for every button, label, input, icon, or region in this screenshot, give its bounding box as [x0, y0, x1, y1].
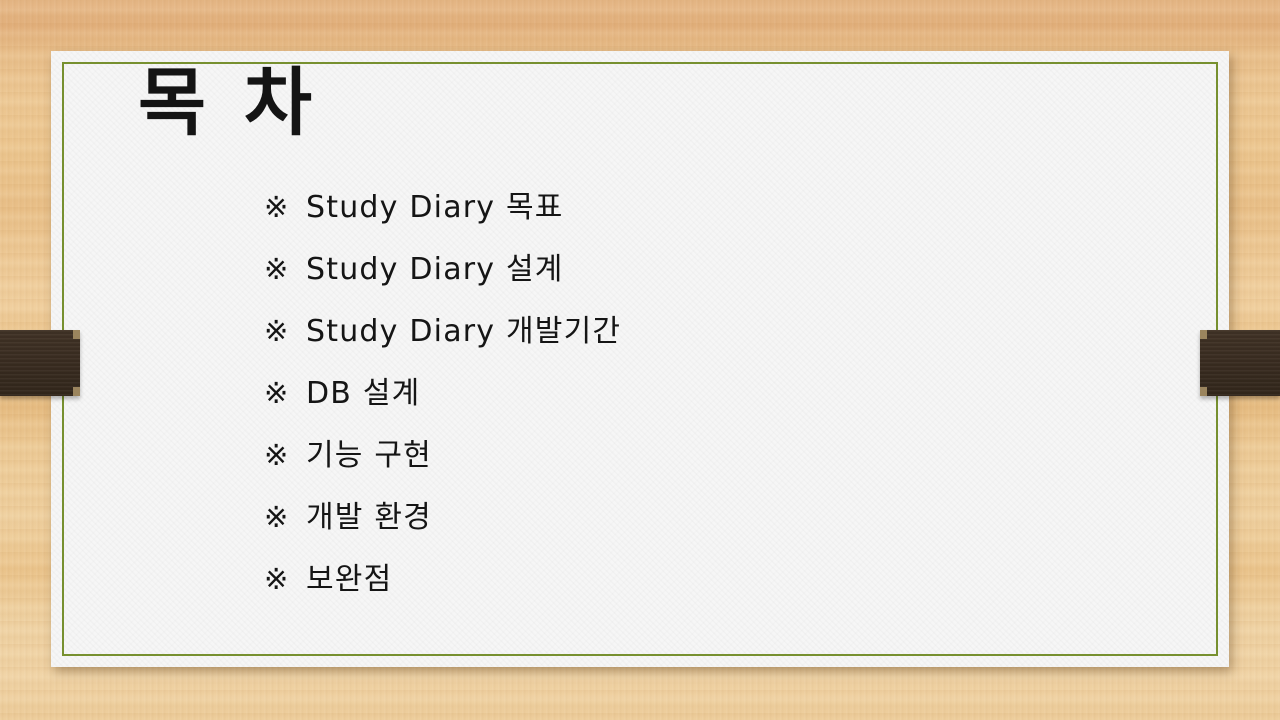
list-item: ※ Study Diary 목표 — [264, 182, 621, 244]
decorative-ribbon-left — [0, 330, 80, 396]
reference-mark-icon: ※ — [264, 500, 306, 534]
list-item-label: DB 설계 — [306, 368, 420, 412]
list-item: ※ 기능 구현 — [264, 430, 621, 492]
list-item-label: 보완점 — [306, 554, 392, 598]
ribbon-cap-top-left — [73, 330, 80, 339]
decorative-ribbon-right — [1200, 330, 1280, 396]
list-item-label: 개발 환경 — [306, 492, 432, 536]
list-item-label: Study Diary 개발기간 — [306, 306, 621, 350]
ribbon-cap-top-right — [1200, 330, 1207, 339]
list-item-label: Study Diary 목표 — [306, 182, 564, 226]
list-item: ※ 개발 환경 — [264, 492, 621, 554]
reference-mark-icon: ※ — [264, 190, 306, 224]
list-item: ※ DB 설계 — [264, 368, 621, 430]
list-item: ※ Study Diary 개발기간 — [264, 306, 621, 368]
presentation-slide: 목 차 ※ Study Diary 목표 ※ Study Diary 설계 ※ … — [0, 0, 1280, 720]
list-item: ※ Study Diary 설계 — [264, 244, 621, 306]
list-item-label: 기능 구현 — [306, 430, 432, 474]
reference-mark-icon: ※ — [264, 252, 306, 286]
ribbon-cap-bottom-left — [73, 387, 80, 396]
reference-mark-icon: ※ — [264, 562, 306, 596]
list-item-label: Study Diary 설계 — [306, 244, 564, 288]
list-item: ※ 보완점 — [264, 554, 621, 616]
page-title: 목 차 — [138, 66, 318, 140]
table-of-contents-list: ※ Study Diary 목표 ※ Study Diary 설계 ※ Stud… — [264, 182, 621, 616]
reference-mark-icon: ※ — [264, 438, 306, 472]
card-inner-green-border — [62, 62, 1218, 656]
reference-mark-icon: ※ — [264, 314, 306, 348]
ribbon-cap-bottom-right — [1200, 387, 1207, 396]
reference-mark-icon: ※ — [264, 376, 306, 410]
